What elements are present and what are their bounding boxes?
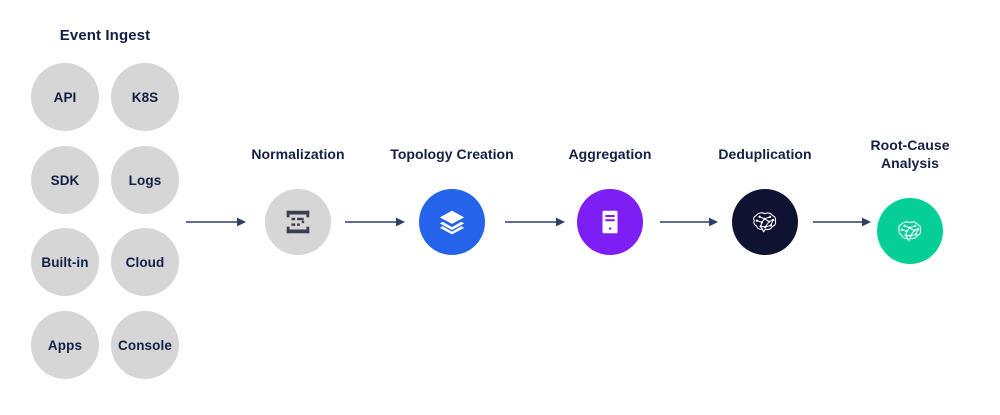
ingest-source-k8s[interactable]: K8S bbox=[111, 63, 179, 131]
pipeline-stage-label: Topology Creation bbox=[377, 145, 527, 163]
ingest-source-label: K8S bbox=[132, 90, 159, 105]
pipeline-stage-label: Root-Cause Analysis bbox=[835, 136, 985, 172]
brain-network-icon bbox=[895, 216, 925, 246]
flow-arrow-3 bbox=[505, 215, 565, 229]
ingest-source-api[interactable]: API bbox=[31, 63, 99, 131]
ingest-source-label: Cloud bbox=[126, 255, 165, 270]
flow-arrow-5 bbox=[813, 215, 871, 229]
pipeline-stage-icon-circle[interactable] bbox=[877, 198, 943, 264]
pipeline-stage-icon-circle[interactable] bbox=[265, 189, 331, 255]
ingest-source-apps[interactable]: Apps bbox=[31, 311, 99, 379]
ingest-source-label: Logs bbox=[129, 173, 162, 188]
ingest-source-label: Apps bbox=[48, 338, 82, 353]
ingest-source-label: SDK bbox=[51, 173, 80, 188]
pipeline-stage-icon-circle[interactable] bbox=[577, 189, 643, 255]
ingest-source-cloud[interactable]: Cloud bbox=[111, 228, 179, 296]
server-rack-icon bbox=[595, 207, 625, 237]
layers-stack-icon bbox=[437, 207, 467, 237]
event-ingest-title: Event Ingest bbox=[0, 27, 210, 44]
pipeline-stage-label: Deduplication bbox=[690, 145, 840, 163]
pipeline-stage-icon-circle[interactable] bbox=[732, 189, 798, 255]
pipeline-stage-icon-circle[interactable] bbox=[419, 189, 485, 255]
ingest-source-label: API bbox=[54, 90, 77, 105]
flow-arrow-2 bbox=[345, 215, 405, 229]
pipeline-stage-label: Aggregation bbox=[535, 145, 685, 163]
ingest-source-label: Built-in bbox=[41, 255, 88, 270]
ingest-source-built-in[interactable]: Built-in bbox=[31, 228, 99, 296]
ingest-source-console[interactable]: Console bbox=[111, 311, 179, 379]
pipeline-stage-label: Normalization bbox=[223, 145, 373, 163]
ingest-source-label: Console bbox=[118, 338, 172, 353]
ingest-source-sdk[interactable]: SDK bbox=[31, 146, 99, 214]
ingest-source-logs[interactable]: Logs bbox=[111, 146, 179, 214]
flow-arrow-1 bbox=[186, 215, 246, 229]
flow-arrow-4 bbox=[660, 215, 718, 229]
normalize-data-icon bbox=[283, 207, 313, 237]
event-ingest-group: Event Ingest APIK8SSDKLogsBuilt-inCloudA… bbox=[0, 0, 200, 415]
brain-network-icon bbox=[750, 207, 780, 237]
